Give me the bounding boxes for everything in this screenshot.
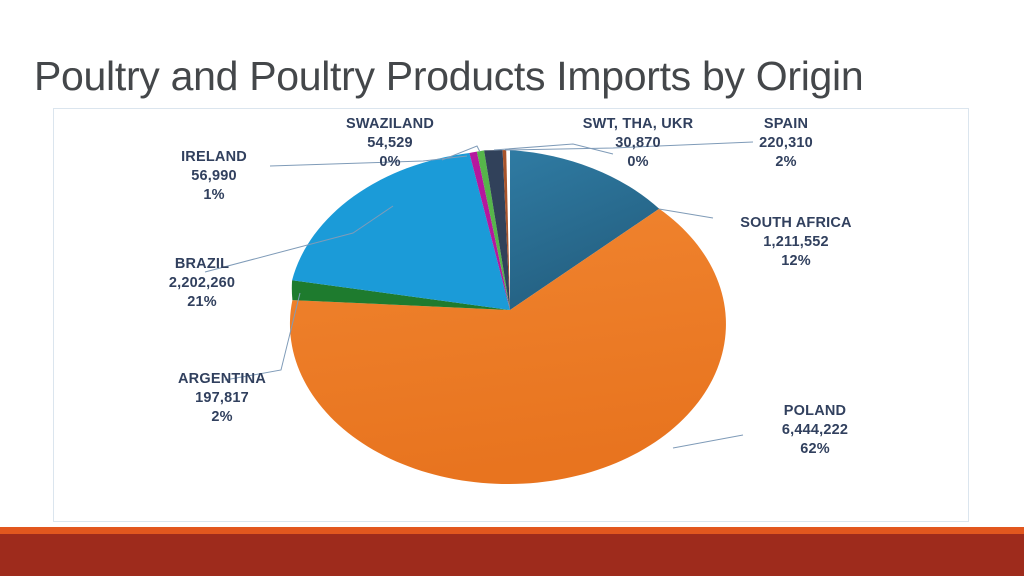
pie-label-swaziland[interactable]: SWAZILAND 54,529 0%: [310, 115, 470, 172]
pie-label-ireland-percent: 1%: [134, 186, 294, 205]
pie-label-argentina-name: ARGENTINA: [136, 370, 308, 389]
pie-label-brazil-percent: 21%: [116, 293, 288, 312]
pie-label-brazil-value: 2,202,260: [116, 274, 288, 293]
pie-label-swaziland-name: SWAZILAND: [310, 115, 470, 134]
pie-label-south-africa-percent: 12%: [708, 252, 884, 271]
pie-label-poland[interactable]: POLAND 6,444,222 62%: [730, 402, 900, 459]
pie-label-brazil-name: BRAZIL: [116, 255, 288, 274]
pie-label-argentina[interactable]: ARGENTINA 197,817 2%: [136, 370, 308, 427]
pie-label-south-africa[interactable]: SOUTH AFRICA 1,211,552 12%: [708, 214, 884, 271]
pie-label-spain-percent: 2%: [712, 153, 860, 172]
presentation-slide: Poultry and Poultry Products Imports by …: [0, 0, 1024, 576]
pie-label-swaziland-percent: 0%: [310, 153, 470, 172]
pie-label-argentina-value: 197,817: [136, 389, 308, 408]
pie-label-swt-tha-ukr-name: SWT, THA, UKR: [556, 115, 720, 134]
page-title: Poultry and Poultry Products Imports by …: [34, 48, 934, 104]
pie-label-spain-name: SPAIN: [712, 115, 860, 134]
pie-label-spain-value: 220,310: [712, 134, 860, 153]
pie-label-south-africa-name: SOUTH AFRICA: [708, 214, 884, 233]
pie-label-argentina-percent: 2%: [136, 408, 308, 427]
pie-label-ireland-name: IRELAND: [134, 148, 294, 167]
pie-label-swt-tha-ukr-value: 30,870: [556, 134, 720, 153]
pie-label-ireland-value: 56,990: [134, 167, 294, 186]
pie-label-poland-percent: 62%: [730, 440, 900, 459]
pie-label-spain[interactable]: SPAIN 220,310 2%: [712, 115, 860, 172]
pie-label-south-africa-value: 1,211,552: [708, 233, 884, 252]
pie-label-poland-value: 6,444,222: [730, 421, 900, 440]
pie-label-brazil[interactable]: BRAZIL 2,202,260 21%: [116, 255, 288, 312]
pie-slices: [290, 150, 726, 484]
pie-label-swt-tha-ukr[interactable]: SWT, THA, UKR 30,870 0%: [556, 115, 720, 172]
pie-label-swt-tha-ukr-percent: 0%: [556, 153, 720, 172]
footer-accent-stripe: [0, 527, 1024, 534]
pie-label-ireland[interactable]: IRELAND 56,990 1%: [134, 148, 294, 205]
footer-band: [0, 534, 1024, 576]
pie-label-swaziland-value: 54,529: [310, 134, 470, 153]
pie-label-poland-name: POLAND: [730, 402, 900, 421]
